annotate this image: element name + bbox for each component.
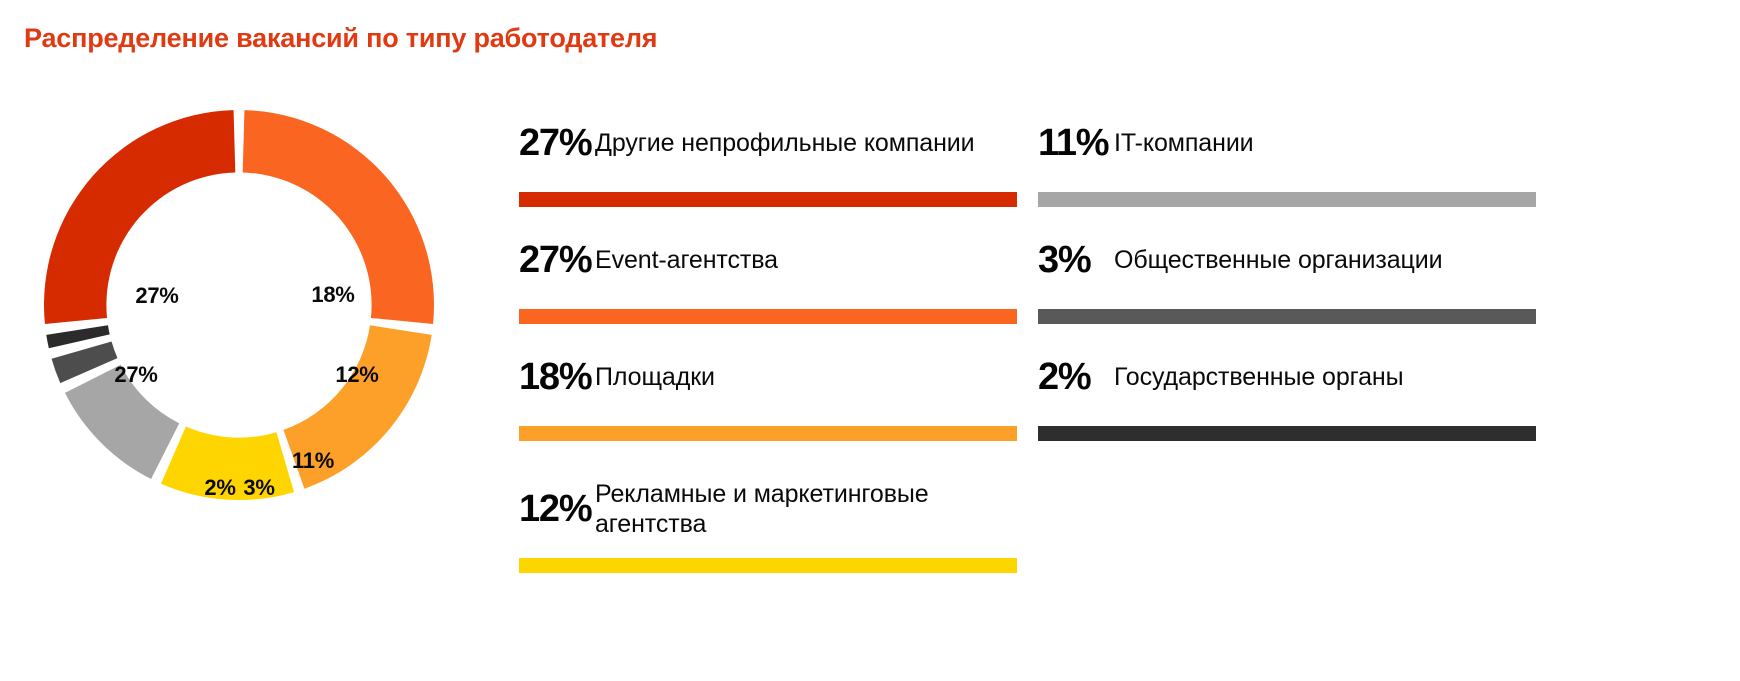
donut-segment-group: [44, 110, 434, 500]
legend-item-color-bar: [519, 558, 1017, 573]
donut-percent-label: 12%: [335, 362, 378, 388]
legend-item-percent: 11%: [1038, 124, 1114, 162]
legend-item-label: Государственные органы: [1114, 362, 1536, 393]
legend-item-color-bar: [1038, 426, 1536, 441]
legend-item-label: Другие непрофильные компании: [595, 128, 1017, 159]
legend-item-color-bar: [519, 309, 1017, 324]
legend-item-percent: 2%: [1038, 358, 1114, 396]
legend-item[interactable]: 27%Event-агентства: [519, 217, 1017, 324]
legend-item[interactable]: 3%Общественные организации: [1038, 217, 1536, 324]
legend-item-row: 18%Площадки: [519, 334, 1017, 420]
legend-item-percent: 27%: [519, 241, 595, 279]
legend-item-percent: 3%: [1038, 241, 1114, 279]
legend-item-label: Event-агентства: [595, 245, 1017, 276]
legend-item-label: Площадки: [595, 362, 1017, 393]
legend-item[interactable]: 12%Рекламные и маркетинговые агентства: [519, 466, 1017, 573]
donut-percent-label: 27%: [114, 362, 157, 388]
donut-percent-label: 2%: [204, 475, 235, 501]
legend-item-row: 11%IT-компании: [1038, 100, 1536, 186]
legend-item-row: 27%Другие непрофильные компании: [519, 100, 1017, 186]
legend-item-color-bar: [519, 192, 1017, 207]
legend-item-color-bar: [519, 426, 1017, 441]
donut-percent-label: 27%: [135, 283, 178, 309]
legend-item-row: 3%Общественные организации: [1038, 217, 1536, 303]
chart-page: Распределение вакансий по типу работодат…: [0, 0, 1740, 681]
legend-item-color-bar: [1038, 192, 1536, 207]
legend-item-row: 12%Рекламные и маркетинговые агентства: [519, 466, 1017, 552]
legend-item-percent: 12%: [519, 490, 595, 528]
legend: 27%Другие непрофильные компании27%Event-…: [519, 100, 1719, 610]
legend-item-row: 2%Государственные органы: [1038, 334, 1536, 420]
donut-percent-label: 18%: [311, 282, 354, 308]
legend-item-color-bar: [1038, 309, 1536, 324]
donut-segment: [46, 325, 109, 348]
donut-percent-label: 3%: [243, 475, 274, 501]
legend-item[interactable]: 11%IT-компании: [1038, 100, 1536, 207]
page-title: Распределение вакансий по типу работодат…: [24, 23, 657, 54]
legend-item-percent: 18%: [519, 358, 595, 396]
legend-item-label: IT-компании: [1114, 128, 1536, 159]
donut-chart-svg: [14, 80, 464, 530]
legend-item-percent: 27%: [519, 124, 595, 162]
legend-item-label: Рекламные и маркетинговые агентства: [595, 479, 1017, 540]
donut-chart: 27%18%12%11%3%2%27%: [14, 80, 464, 530]
legend-item[interactable]: 18%Площадки: [519, 334, 1017, 441]
donut-percent-label: 11%: [292, 448, 334, 474]
legend-item-row: 27%Event-агентства: [519, 217, 1017, 303]
legend-item[interactable]: 27%Другие непрофильные компании: [519, 100, 1017, 207]
legend-item-label: Общественные организации: [1114, 245, 1536, 276]
legend-item[interactable]: 2%Государственные органы: [1038, 334, 1536, 441]
